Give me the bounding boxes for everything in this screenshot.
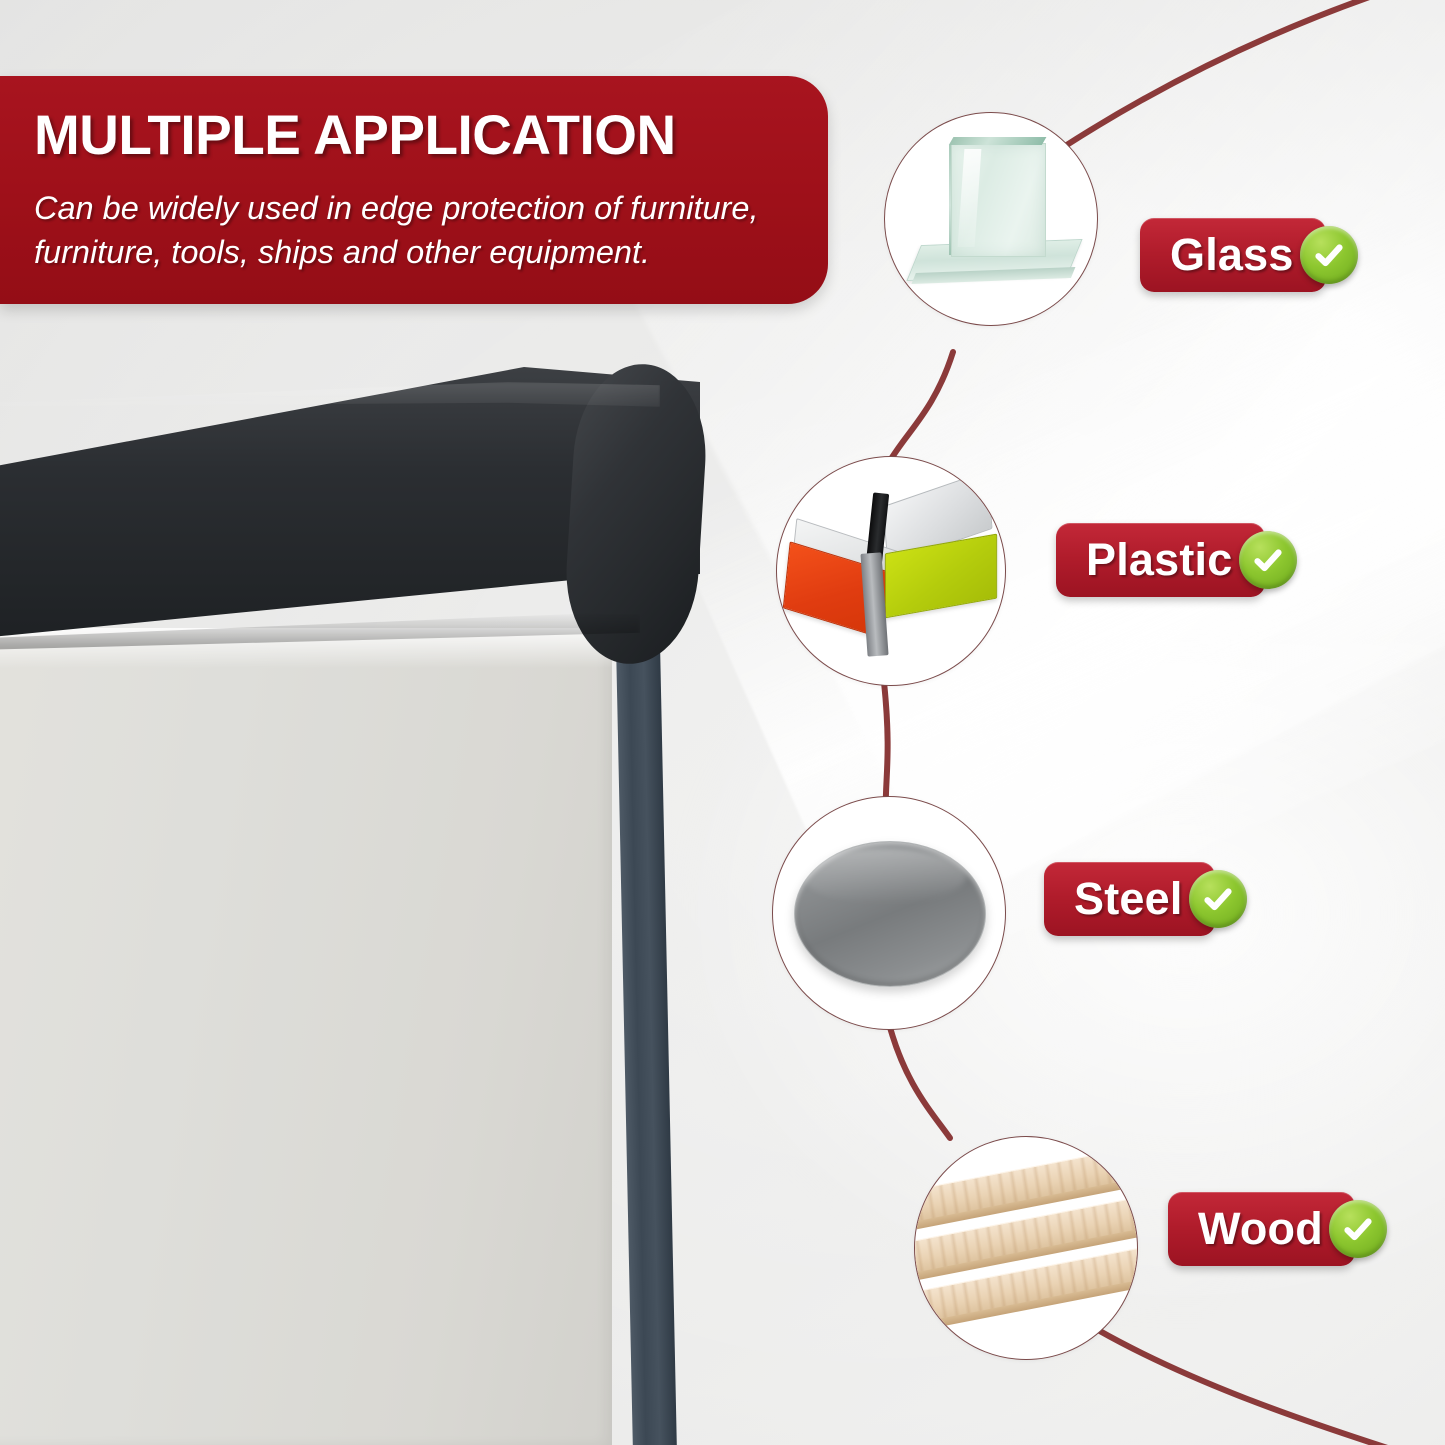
- infographic-canvas: Glass Plastic: [0, 0, 1445, 1445]
- material-label-glass[interactable]: Glass: [1140, 218, 1358, 292]
- material-label-steel[interactable]: Steel: [1044, 862, 1247, 936]
- material-bubble-wood: [914, 1136, 1138, 1360]
- product-photo-edge-trim: [0, 360, 720, 1445]
- pill-glass[interactable]: Glass: [1140, 218, 1326, 292]
- material-bubble-glass: [884, 112, 1098, 326]
- glass-pane-icon: [885, 113, 1097, 325]
- pill-plastic[interactable]: Plastic: [1056, 523, 1265, 597]
- material-bubble-steel: [772, 796, 1006, 1030]
- material-label-plastic[interactable]: Plastic: [1056, 523, 1297, 597]
- wood-boards-icon: [915, 1137, 1137, 1359]
- material-label-wood[interactable]: Wood: [1168, 1192, 1387, 1266]
- panel-face: [0, 628, 612, 1445]
- steel-disc-sheen: [803, 848, 965, 904]
- check-circle-icon: [1300, 226, 1358, 284]
- check-circle-icon: [1239, 531, 1297, 589]
- banner-subtitle: Can be widely used in edge protection of…: [34, 186, 816, 274]
- pill-wood[interactable]: Wood: [1168, 1192, 1355, 1266]
- check-circle-icon: [1329, 1200, 1387, 1258]
- steel-disc-icon: [773, 797, 1005, 1029]
- material-bubble-plastic: [776, 456, 1006, 686]
- check-circle-icon: [1189, 870, 1247, 928]
- glass-pane-top-edge: [948, 137, 1046, 145]
- header-banner: MULTIPLE APPLICATION Can be widely used …: [0, 76, 828, 304]
- wood-board-stack: [915, 1137, 1137, 1359]
- acrylic-sheets-icon: [777, 457, 1005, 685]
- page-title: MULTIPLE APPLICATION: [34, 102, 676, 167]
